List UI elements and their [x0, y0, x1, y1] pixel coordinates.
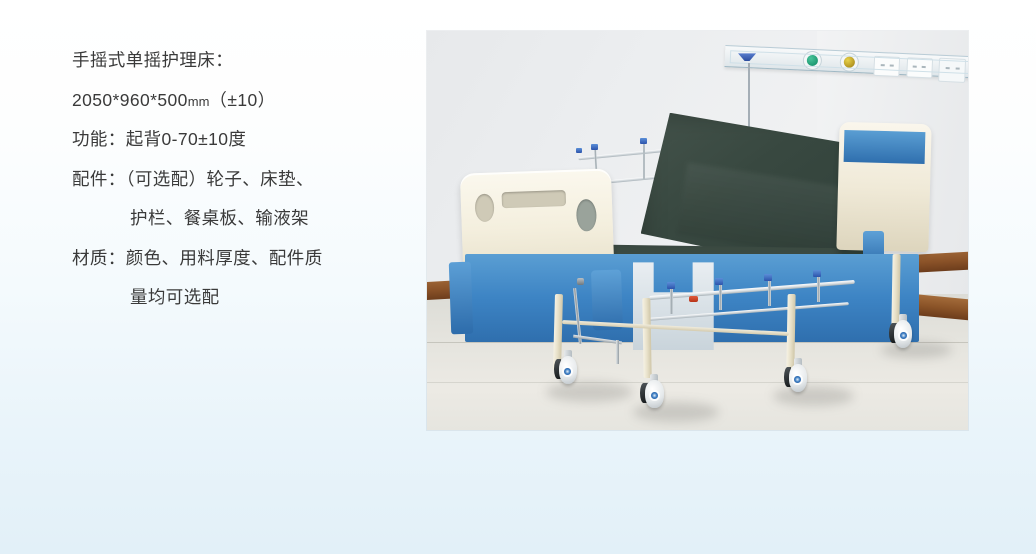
- power-socket-icon: [873, 56, 900, 77]
- side-rail-front-post: [817, 274, 820, 302]
- side-rail-front-cap: [813, 270, 821, 277]
- castor-wheel: [557, 350, 579, 384]
- blank-plate-icon: [938, 58, 966, 83]
- product-specification-text: 手摇式单摇护理床： 2050*960*500mm（±10） 功能：起背0-70±…: [72, 52, 402, 329]
- rail-release-lever: [689, 296, 698, 302]
- spec-line-accessories: 配件：（可选配）轮子、床垫、: [72, 171, 402, 189]
- spec-line-accessories-cont: 护栏、餐桌板、输液架: [72, 210, 402, 228]
- side-rail-front-post: [768, 278, 771, 306]
- dimension-tolerance: （±10）: [209, 90, 275, 110]
- castor-wheel: [892, 314, 914, 348]
- side-rail-post: [643, 141, 645, 179]
- side-rail-front-cap: [715, 278, 723, 285]
- side-rail-cap: [640, 138, 647, 144]
- spec-line-function: 功能：起背0-70±10度: [72, 131, 402, 149]
- headboard-handle-slot-2: [576, 198, 597, 231]
- crank-mount: [577, 278, 584, 285]
- castor-wheel: [787, 358, 809, 392]
- side-rail-front-cap: [764, 274, 772, 281]
- floor-shadow: [773, 386, 854, 406]
- side-rail-front-cap: [667, 282, 675, 289]
- dimension-unit: mm: [188, 94, 210, 109]
- crank-handle-grip: [616, 340, 619, 364]
- headboard-bumper-left: [448, 262, 472, 335]
- spec-line-material-cont: 量均可选配: [72, 289, 402, 307]
- spec-line-title: 手摇式单摇护理床：: [72, 52, 402, 70]
- side-rail-front-post: [670, 286, 673, 314]
- footboard-blue-panel: [843, 130, 925, 164]
- spec-line-dimensions: 2050*960*500mm（±10）: [72, 92, 402, 110]
- dimension-value: 2050*960*500: [72, 90, 188, 110]
- headboard-center-slot: [502, 189, 566, 207]
- side-rail-cap: [591, 144, 598, 150]
- floor-shadow: [546, 382, 633, 402]
- headboard-handle-slot: [474, 193, 495, 222]
- product-photo: [427, 31, 968, 430]
- oxygen-outlet-icon: [806, 55, 817, 66]
- side-rail-front-post: [719, 282, 722, 310]
- suction-outlet-icon: [844, 57, 855, 68]
- castor-wheel: [643, 374, 665, 408]
- floor-seam-2: [427, 382, 968, 383]
- spec-line-material: 材质：颜色、用料厚度、配件质: [72, 250, 402, 268]
- castor-hub: [651, 392, 658, 399]
- power-socket-icon-2: [905, 57, 932, 78]
- side-rail-cap: [576, 148, 582, 153]
